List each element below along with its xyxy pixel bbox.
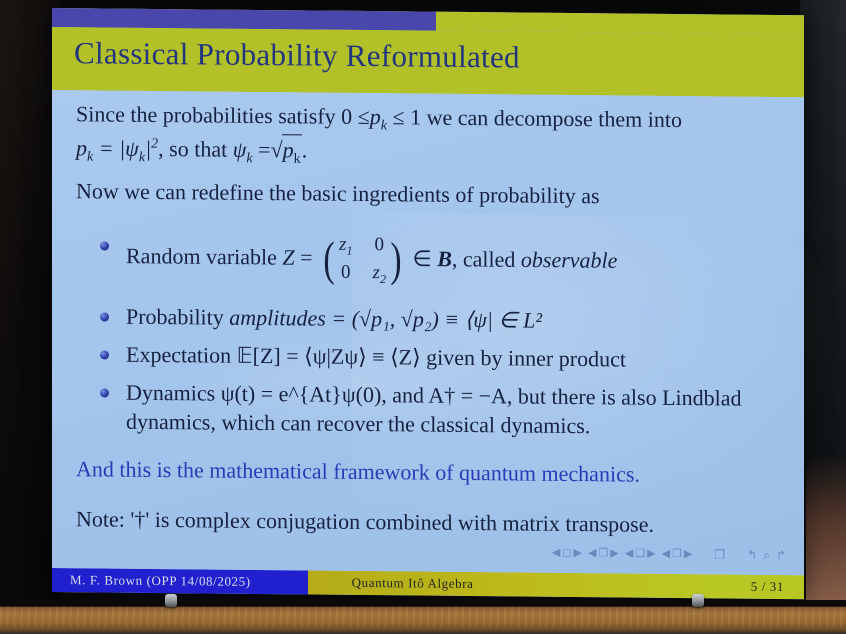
paragraph-redefine: Now we can redefine the basic ingredient… bbox=[76, 176, 776, 212]
nav-prev-subsection-icon[interactable]: ◀ bbox=[625, 548, 633, 559]
bullet1-symbol-z: Z bbox=[282, 245, 294, 270]
p1-mid: we can decompose them into bbox=[427, 105, 682, 132]
nav-prev-frame-icon[interactable]: ◀ bbox=[588, 548, 596, 559]
p1-lead: Since the probabilities satisfy bbox=[76, 101, 336, 128]
nav-subsection-group[interactable]: ◀ ❑ ▶ bbox=[625, 548, 656, 559]
p1-period: . bbox=[302, 138, 308, 163]
page-title: Classical Probability Reformulated bbox=[74, 35, 520, 75]
p1-pk-symbol-2: pk bbox=[76, 135, 93, 160]
matrix-left-paren: ( bbox=[323, 240, 334, 278]
bullet1-membership: ∈ bbox=[413, 246, 432, 271]
nav-frame-group[interactable]: ◀ ❐ ▶ bbox=[588, 548, 619, 559]
matrix-grid: z1 0 0 z2 bbox=[337, 232, 388, 287]
bullet4-text: Dynamics ψ(t) = e^{At}ψ(0), and A† = −A,… bbox=[126, 379, 742, 437]
bullet1-set-b: B bbox=[437, 246, 452, 271]
ingredients-list: Random variable Z = ( z1 0 0 z2 ) ∈ bbox=[98, 230, 788, 450]
nav-back-icon[interactable]: ↰ bbox=[747, 549, 757, 561]
nav-prev-section-icon[interactable]: ◀ bbox=[662, 548, 670, 559]
p1-inequality-right: ≤ 1 bbox=[393, 104, 422, 129]
screen-mount-screw bbox=[692, 594, 704, 607]
footer-author: M. F. Brown (OPP 14/08/2025) bbox=[52, 568, 308, 594]
bullet-dot-icon bbox=[100, 350, 109, 359]
p1-decomposition: = |ψk|2 bbox=[99, 136, 158, 162]
nav-slide-icon[interactable]: ◻ bbox=[562, 547, 571, 558]
nav-next-section-icon[interactable]: ▶ bbox=[684, 549, 692, 560]
matrix-cell-11: z1 bbox=[339, 232, 352, 259]
nav-frame-icon[interactable]: ❐ bbox=[598, 548, 608, 559]
bullet-dot-icon bbox=[100, 312, 109, 321]
list-item-probability-amplitudes: Probability amplitudes = (√p₁, √p₂) ≡ ⟨ψ… bbox=[98, 301, 788, 337]
note-line: Note: '†' is complex conjugation combine… bbox=[76, 504, 788, 540]
bullet-dot-icon bbox=[100, 388, 109, 397]
wooden-ledge-grain bbox=[0, 606, 846, 628]
nav-slide-group[interactable]: ◀ ◻ ▶ bbox=[552, 547, 582, 558]
audience-member-silhouette bbox=[806, 455, 846, 605]
projected-slide-photograph: Classical Probability Reformulated Since… bbox=[0, 0, 846, 634]
p1-so-that: , so that bbox=[158, 136, 227, 162]
list-item-expectation: Expectation 𝔼[Z] = ⟨ψ|Zψ⟩ ≡ ⟨Z⟩ given by… bbox=[98, 339, 788, 375]
bullet1-equals: = bbox=[300, 245, 312, 270]
bullet1-emphasis: observable bbox=[521, 247, 618, 273]
slide-title-band: Classical Probability Reformulated bbox=[52, 27, 804, 97]
matrix-cell-22: z2 bbox=[373, 260, 386, 287]
matrix-right-paren: ) bbox=[390, 241, 401, 279]
highlight-line: And this is the mathematical framework o… bbox=[76, 454, 788, 490]
observable-matrix: ( z1 0 0 z2 ) bbox=[321, 232, 404, 287]
matrix-cell-21: 0 bbox=[339, 260, 352, 287]
p1-psi-k: ψk bbox=[233, 137, 253, 162]
footer-talk-title: Quantum Itô Algebra bbox=[308, 570, 707, 598]
nav-document-icon[interactable]: ❒ bbox=[714, 548, 725, 560]
p1-inequality-left: 0 ≤ bbox=[341, 104, 370, 129]
nav-subsection-icon[interactable]: ❑ bbox=[635, 548, 645, 559]
nav-next-subsection-icon[interactable]: ▶ bbox=[647, 548, 655, 559]
footer-page-number: 5 / 31 bbox=[706, 574, 804, 599]
nav-next-slide-icon[interactable]: ▶ bbox=[573, 548, 581, 559]
bullet1-suffix: , called bbox=[452, 246, 516, 272]
nav-prev-slide-icon[interactable]: ◀ bbox=[552, 547, 560, 558]
bullet2-expression: = (√p₁, √p₂) ≡ ⟨ψ| ∈ L² bbox=[331, 305, 542, 332]
slide-body: Since the probabilities satisfy 0 ≤pk ≤ … bbox=[52, 90, 804, 575]
list-item-random-variable: Random variable Z = ( z1 0 0 z2 ) ∈ bbox=[98, 230, 788, 291]
nav-section-icon[interactable]: ❒ bbox=[672, 548, 682, 559]
bullet2-emphasis: amplitudes bbox=[229, 304, 326, 330]
bullet2-prefix: Probability bbox=[126, 303, 224, 329]
projection-screen: Classical Probability Reformulated Since… bbox=[52, 8, 804, 599]
p1-pk-symbol: pk bbox=[370, 104, 387, 129]
nav-search-icon[interactable]: ⌕ bbox=[763, 549, 770, 561]
nav-forward-icon[interactable]: ↱ bbox=[776, 549, 786, 561]
p1-equals: = bbox=[258, 137, 270, 162]
nav-next-frame-icon[interactable]: ▶ bbox=[610, 548, 618, 559]
matrix-cell-12: 0 bbox=[373, 232, 386, 259]
screen-mount-screw bbox=[165, 594, 177, 607]
nav-section-group[interactable]: ◀ ❒ ▶ bbox=[662, 548, 693, 559]
beamer-navigation-symbols[interactable]: ◀ ◻ ▶ ◀ ❐ ▶ ◀ ❑ ▶ ◀ ❒ ▶ bbox=[552, 547, 786, 561]
paragraph-decomposition: Since the probabilities satisfy 0 ≤pk ≤ … bbox=[76, 99, 788, 173]
list-item-dynamics: Dynamics ψ(t) = e^{At}ψ(0), and A† = −A,… bbox=[98, 377, 788, 442]
room-wall-left bbox=[0, 0, 60, 600]
bullet-dot-icon bbox=[100, 241, 109, 250]
p1-radicand: pk bbox=[282, 134, 302, 168]
bullet1-prefix: Random variable bbox=[126, 243, 277, 269]
bullet3-text: Expectation 𝔼[Z] = ⟨ψ|Zψ⟩ ≡ ⟨Z⟩ given by… bbox=[126, 341, 626, 371]
